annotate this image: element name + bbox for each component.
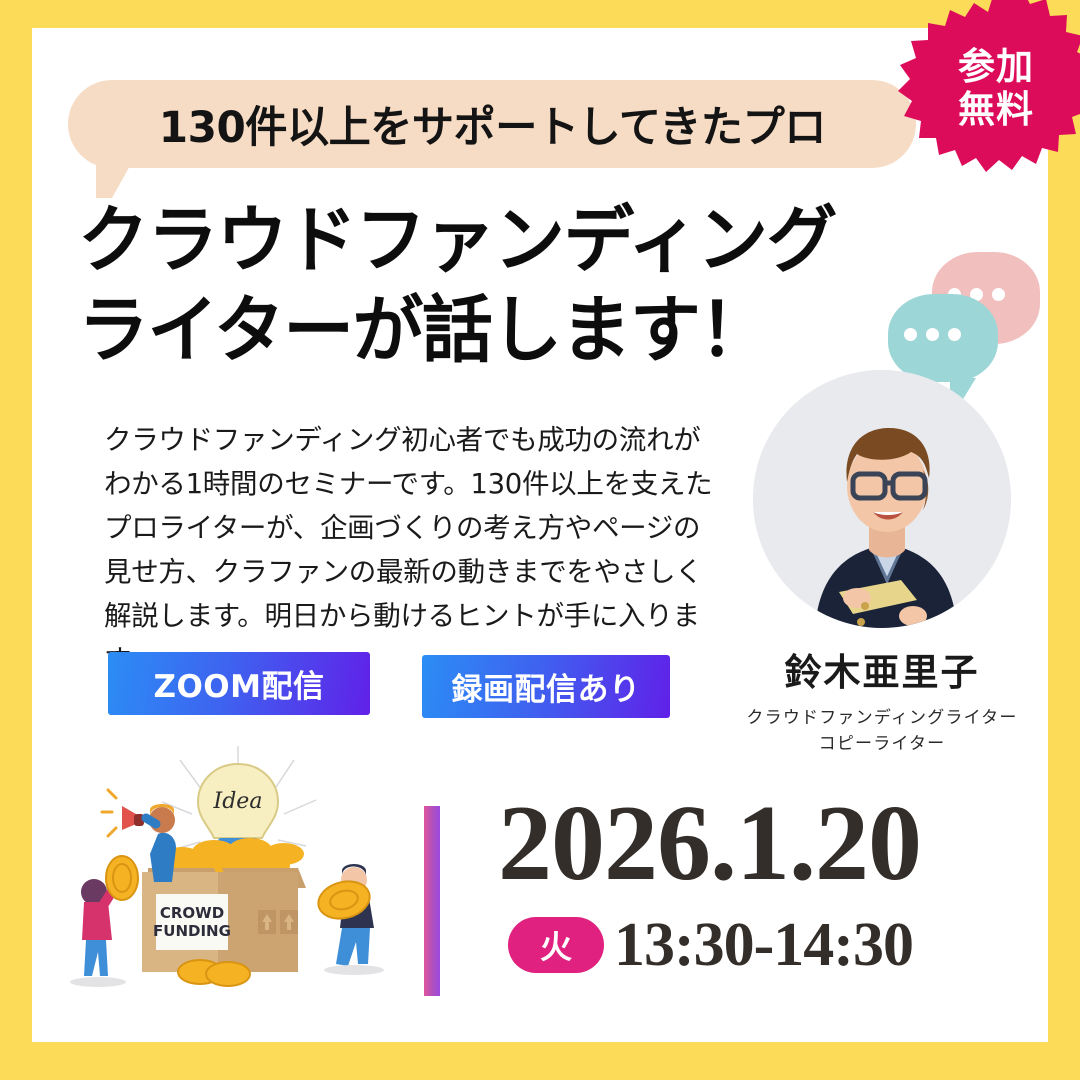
- speaker-name: 鈴木亜里子: [700, 642, 1064, 696]
- page-title: クラウドファンディング ライターが話します！: [78, 196, 958, 376]
- flyer-root: 130件以上をサポートしてきたプロ クラウドファンディング ライターが話します！…: [0, 0, 1080, 1080]
- badge-line-1: 参加: [958, 46, 1034, 87]
- date-accent-bar: [424, 806, 440, 996]
- headline-line-1: クラウドファンディング: [78, 196, 932, 286]
- headline-line-2: ライターが話します！: [78, 286, 932, 376]
- svg-text:Idea: Idea: [213, 789, 263, 814]
- tagline-banner: 130件以上をサポートしてきたプロ: [68, 80, 916, 168]
- event-time: 13:30-14:30: [614, 914, 913, 976]
- tagline-text: 130件以上をサポートしてきたプロ: [158, 93, 825, 155]
- portrait-illustration-icon: [753, 370, 1011, 628]
- description-paragraph: クラウドファンディング初心者でも成功の流れがわかる1時間のセミナーです。130件…: [104, 418, 724, 682]
- speaker-role-line-1: クラウドファンディングライター: [700, 703, 1064, 728]
- badge-line-2: 無料: [958, 89, 1034, 130]
- badge-text-group: 参加 無料: [898, 0, 1080, 180]
- svg-text:CROWD: CROWD: [160, 904, 224, 922]
- event-date: 2026.1.20: [498, 790, 921, 898]
- speaker-portrait: [753, 370, 1011, 628]
- dot: [992, 288, 1005, 301]
- speaker-role-line-2: コピーライター: [700, 729, 1064, 754]
- crowdfunding-illustration: Idea CROWD FUNDING: [62, 742, 422, 1000]
- tag-zoom[interactable]: ZOOM配信: [108, 652, 370, 715]
- tag-recording[interactable]: 録画配信あり: [422, 655, 670, 718]
- svg-text:FUNDING: FUNDING: [153, 922, 231, 940]
- weekday-badge: 火: [508, 917, 604, 973]
- event-time-row: 火 13:30-14:30: [508, 914, 913, 976]
- crowdfunding-scene-icon: Idea CROWD FUNDING: [62, 742, 422, 1000]
- free-participation-badge: 参加 無料: [898, 0, 1080, 180]
